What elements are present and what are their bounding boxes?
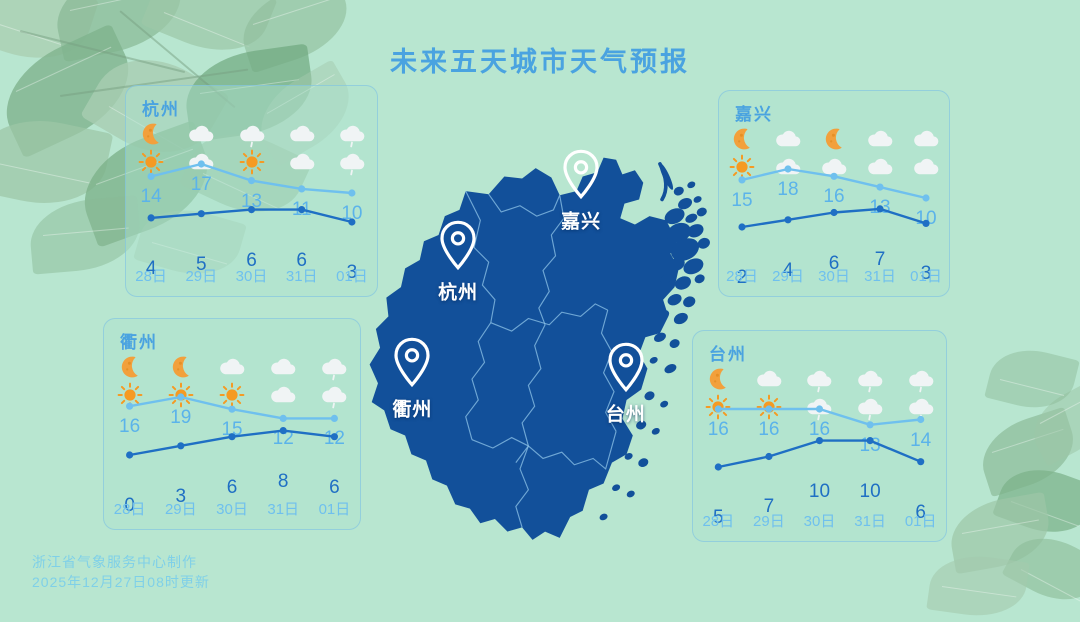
infographic-root: 未来五天城市天气预报 杭州嘉兴衢州台州 杭州14428日17529日13630日… [0, 0, 1080, 608]
date-label: 28日 [104, 498, 155, 519]
chart-svg [126, 148, 377, 238]
date-label: 30日 [794, 510, 845, 531]
map-marker-3[interactable]: 台州 [606, 342, 646, 427]
island [686, 180, 696, 189]
date-label: 31日 [258, 498, 309, 519]
island [666, 292, 684, 308]
island [693, 273, 706, 285]
rain-icon [802, 365, 836, 393]
leaf-vein [962, 519, 1039, 534]
map-marker-0[interactable]: 杭州 [438, 220, 478, 305]
cloud-icon [266, 353, 300, 381]
map-marker-1[interactable]: 嘉兴 [561, 149, 601, 234]
low-temp-value: 10 [794, 481, 845, 503]
leaf-shape [926, 550, 1029, 622]
date-label: 29日 [765, 265, 811, 286]
leaf-shape [992, 456, 1080, 546]
high-temp-series [148, 160, 356, 196]
date-label: 01日 [327, 265, 377, 286]
panel-city-name: 杭州 [142, 95, 180, 120]
moon-icon [701, 365, 735, 393]
page-title: 未来五天城市天气预报 [0, 40, 1080, 79]
chart-svg [104, 381, 360, 471]
rain-icon [335, 120, 369, 148]
island [692, 195, 702, 204]
map-marker-label: 嘉兴 [561, 211, 601, 232]
footer-line-1: 浙江省气象服务中心制作 [32, 552, 210, 572]
low-temp-value: 8 [258, 471, 309, 493]
moon-icon [725, 125, 759, 153]
island [672, 311, 690, 327]
rain-icon [317, 353, 351, 381]
leaf-shape [984, 341, 1080, 418]
date-label: 30日 [226, 265, 276, 286]
island [668, 338, 681, 350]
island [659, 400, 669, 409]
chart-svg [719, 153, 949, 243]
low-temp-series [148, 206, 356, 226]
island [598, 512, 608, 521]
leaf-vein [1011, 501, 1079, 526]
leaf-vein [1000, 379, 1064, 396]
temperature-chart [693, 393, 946, 483]
rain-icon [853, 365, 887, 393]
date-label: 30日 [206, 498, 257, 519]
island [681, 294, 697, 309]
leaf-vein [43, 228, 129, 236]
footer-credits: 浙江省气象服务中心制作 2025年12月27日08时更新 [32, 552, 210, 592]
map-marker-label: 台州 [606, 405, 646, 426]
island [649, 356, 659, 365]
map-pin-icon [561, 149, 601, 205]
cloud-icon [215, 353, 249, 381]
map-pin-icon [392, 337, 432, 393]
forecast-panel-衢州: 衢州16028日19329日15630日12831日12601日 [103, 318, 361, 530]
date-label: 01日 [903, 265, 949, 286]
map-pin-icon [438, 220, 478, 276]
date-label: 31日 [857, 265, 903, 286]
date-label: 29日 [155, 498, 206, 519]
temperature-chart [104, 381, 360, 471]
moon-icon [134, 120, 168, 148]
leaf-vein [253, 0, 335, 25]
date-label: 31日 [845, 510, 896, 531]
cloud-icon [909, 125, 943, 153]
temperature-chart [126, 148, 377, 238]
date-label: 28日 [719, 265, 765, 286]
island [637, 457, 650, 469]
island [663, 362, 678, 375]
date-label: 29日 [744, 510, 795, 531]
date-label: 28日 [126, 265, 176, 286]
leaf-vein [1020, 569, 1080, 602]
low-temp-series [738, 205, 929, 230]
island [651, 427, 661, 436]
leaf-vein [941, 586, 1015, 597]
forecast-panel-台州: 台州16528日16729日161030日131031日14601日 [692, 330, 947, 542]
low-temp-value: 6 [309, 477, 360, 499]
low-temp-value: 6 [206, 477, 257, 499]
cloud-icon [863, 125, 897, 153]
map-marker-label: 衢州 [392, 399, 432, 420]
island [695, 206, 708, 218]
map-svg [358, 95, 728, 565]
leaf-shape [972, 407, 1080, 498]
low-temp-series [715, 437, 925, 471]
island [611, 483, 621, 492]
low-temp-value: 10 [845, 481, 896, 503]
rain-icon [904, 365, 938, 393]
high-temp-series [126, 393, 338, 422]
leaf-shape [945, 492, 1055, 574]
map-marker-2[interactable]: 衢州 [392, 337, 432, 422]
moon-icon [113, 353, 147, 381]
low-temp-series [126, 427, 338, 459]
forecast-panel-嘉兴: 嘉兴15228日18429日16630日13731日10301日 [718, 90, 950, 297]
footer-line-2: 2025年12月27日08时更新 [32, 572, 210, 592]
leaf-shape [0, 108, 113, 217]
leaf-vein [991, 429, 1063, 453]
cloud-icon [285, 120, 319, 148]
high-temp-series [738, 165, 929, 201]
island [672, 185, 685, 197]
date-label: 01日 [895, 510, 946, 531]
high-temp-series [715, 405, 925, 428]
island [685, 222, 705, 240]
forecast-panel-杭州: 杭州14428日17529日13630日11631日10301日 [125, 85, 378, 297]
moon-icon [164, 353, 198, 381]
leaf-shape [1022, 379, 1080, 466]
leaf-vein [0, 162, 91, 184]
leaf-shape [1002, 523, 1080, 616]
moon-icon [817, 125, 851, 153]
leaf-vein [70, 0, 168, 11]
leaf-vein [1039, 394, 1080, 424]
island [626, 489, 636, 498]
cloud-icon [184, 120, 218, 148]
panel-city-name: 衢州 [120, 328, 158, 353]
cloud-icon [752, 365, 786, 393]
panel-city-name: 台州 [709, 340, 747, 365]
panel-city-name: 嘉兴 [735, 100, 773, 125]
date-label: 28日 [693, 510, 744, 531]
date-label: 30日 [811, 265, 857, 286]
island [684, 212, 699, 225]
date-label: 01日 [309, 498, 360, 519]
date-label: 31日 [277, 265, 327, 286]
chart-svg [693, 393, 946, 483]
zhejiang-map: 杭州嘉兴衢州台州 [358, 95, 728, 565]
map-pin-icon [606, 342, 646, 398]
map-marker-label: 杭州 [438, 282, 478, 303]
rain-icon [235, 120, 269, 148]
temperature-chart [719, 153, 949, 243]
date-label: 29日 [176, 265, 226, 286]
cloud-icon [771, 125, 805, 153]
